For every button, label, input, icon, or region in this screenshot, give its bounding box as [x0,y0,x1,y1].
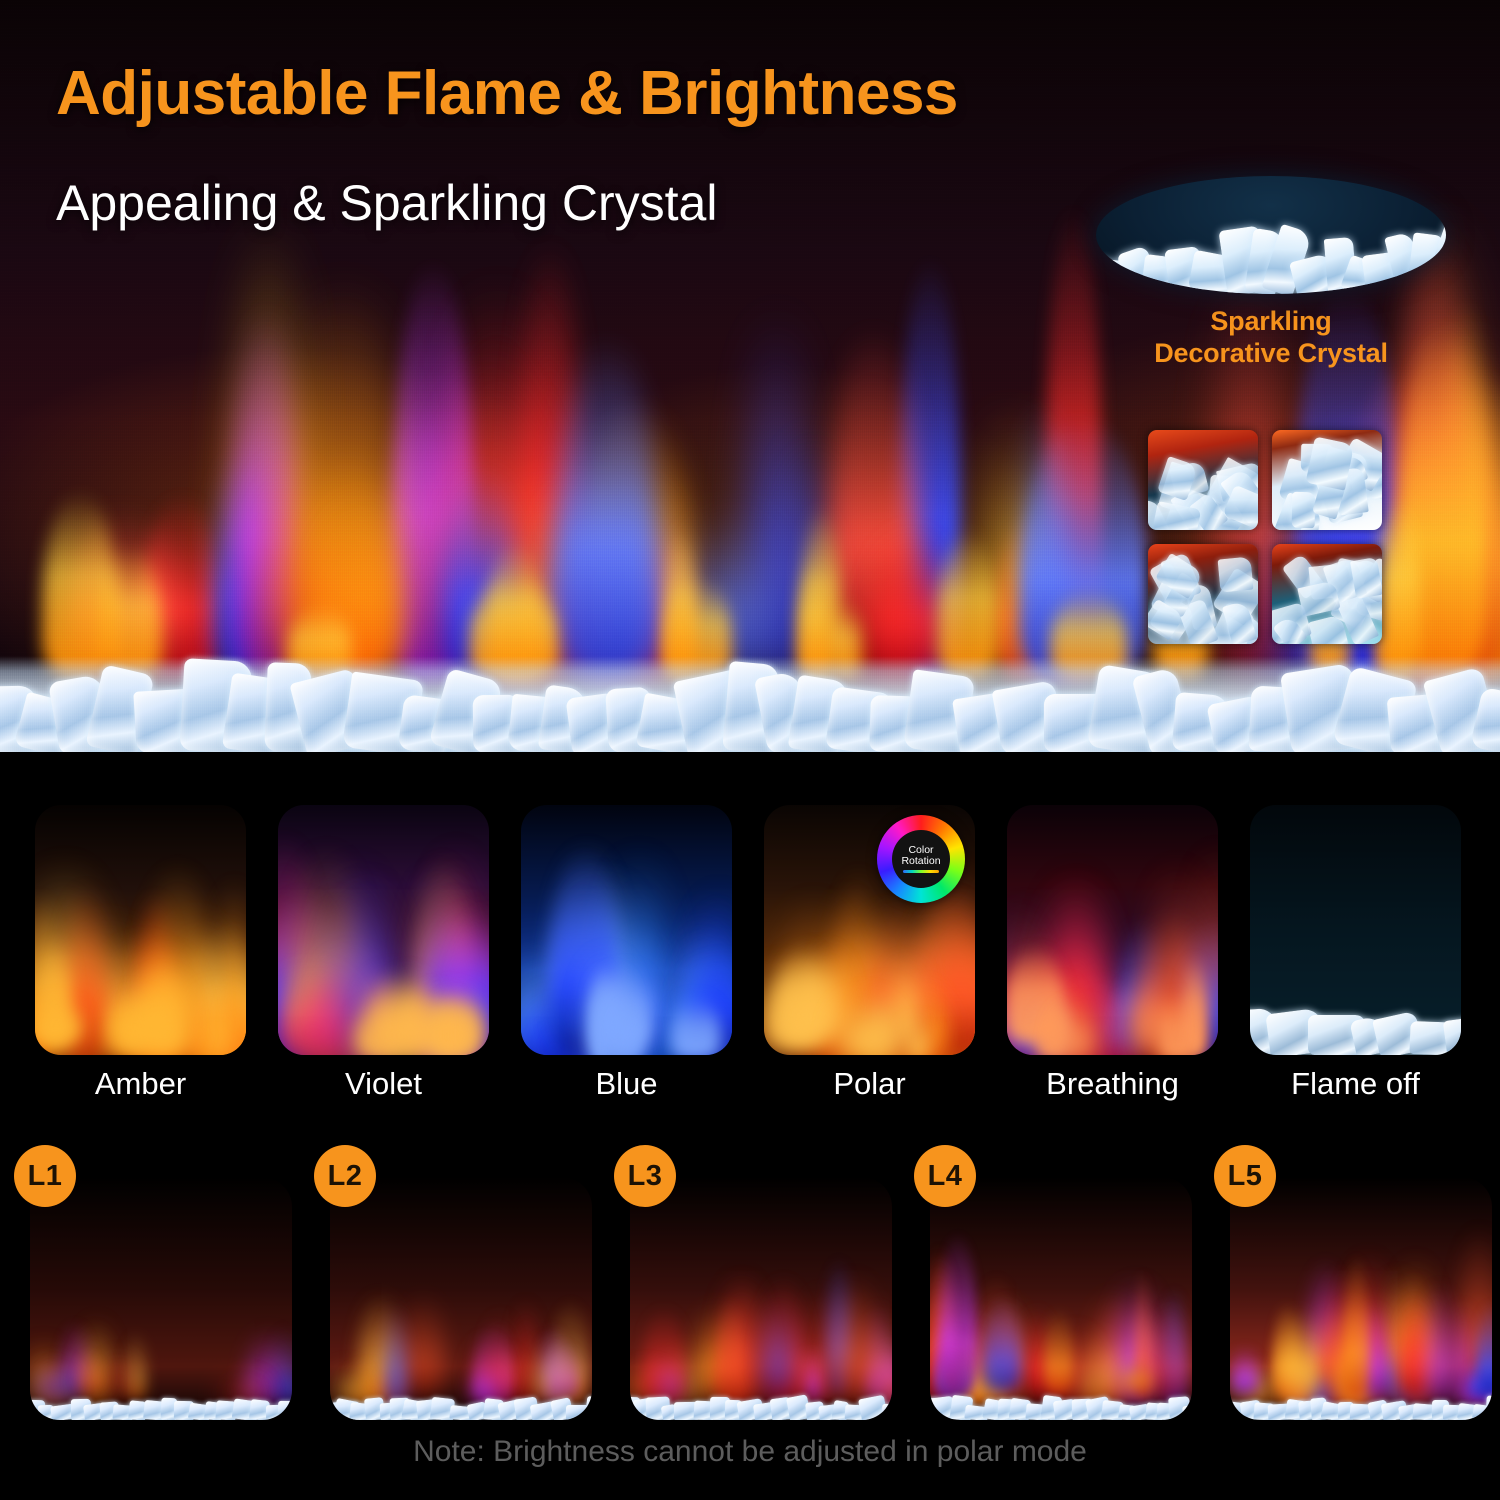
mode-label-amber: Amber [35,1068,246,1099]
brightness-badge-l2: L2 [314,1145,376,1207]
brightness-badge-l5: L5 [1214,1145,1276,1207]
color-rotation-dial-icon: ColorRotation [877,815,965,903]
page-subtitle: Appealing & Sparkling Crystal [56,178,717,228]
mode-thumbnail-amber [35,805,246,1055]
brightness-thumbnail-l3 [630,1177,892,1420]
brightness-thumbnail-l5 [1230,1177,1492,1420]
brightness-thumbnail-l1 [30,1177,292,1420]
brightness-badge-l3: L3 [614,1145,676,1207]
brightness-level-l3[interactable]: L3 [630,1177,892,1420]
brightness-levels-row: L1L2L3L4L5 [0,1145,1500,1420]
brightness-badge-l4: L4 [914,1145,976,1207]
level-crystal-bed [1230,1392,1492,1420]
brightness-level-l1[interactable]: L1 [30,1177,292,1420]
level-crystal-bed [930,1392,1192,1420]
crystal-closeup-1 [1148,430,1258,530]
crystal-callout: Sparkling Decorative Crystal [1086,176,1456,370]
level-crystal-bed [330,1392,592,1420]
brightness-badge-l1: L1 [14,1145,76,1207]
mode-label-blue: Blue [521,1068,732,1099]
color-rotation-gradient-bar [903,870,939,873]
brightness-thumbnail-l4 [930,1177,1192,1420]
brightness-level-l2[interactable]: L2 [330,1177,592,1420]
brightness-level-l4[interactable]: L4 [930,1177,1192,1420]
page-title: Adjustable Flame & Brightness [56,63,958,125]
polar-mode-note: Note: Brightness cannot be adjusted in p… [0,1437,1500,1467]
mode-item-breathing[interactable]: Breathing [1007,805,1218,1099]
mode-label-violet: Violet [278,1068,489,1099]
mode-item-amber[interactable]: Amber [35,805,246,1099]
mode-label-polar: Polar [764,1068,975,1099]
mode-thumbnail-polar: ColorRotation [764,805,975,1055]
crystal-callout-label-line2: Decorative Crystal [1086,338,1456,370]
mode-thumbnail-violet [278,805,489,1055]
crystal-callout-label: Sparkling Decorative Crystal [1086,306,1456,370]
level-crystal-bed [630,1392,892,1420]
hero-crystal-bed [0,656,1500,752]
color-rotation-label-line2: Rotation [901,856,940,867]
crystal-closeup-3 [1148,544,1258,644]
brightness-thumbnail-l2 [330,1177,592,1420]
level-crystal-bed [30,1392,292,1420]
mode-item-violet[interactable]: Violet [278,805,489,1099]
mode-item-polar[interactable]: ColorRotationPolar [764,805,975,1099]
crystal-thumbnail-grid [1148,430,1384,644]
crystal-callout-label-line1: Sparkling [1086,306,1456,338]
crystal-closeup-2 [1272,430,1382,530]
mode-label-breathing: Breathing [1007,1068,1218,1099]
brightness-level-l5[interactable]: L5 [1230,1177,1492,1420]
mode-thumbnail-blue [521,805,732,1055]
mode-item-blue[interactable]: Blue [521,805,732,1099]
mode-label-flame-off: Flame off [1250,1068,1461,1099]
mode-thumbnail-flame-off [1250,805,1461,1055]
crystal-closeup-4 [1272,544,1382,644]
sparkling-crystal-oval-photo [1096,176,1446,294]
mode-item-flame-off[interactable]: Flame off [1250,805,1461,1099]
mode-thumbnail-breathing [1007,805,1218,1055]
flame-color-modes-row: AmberVioletBlueColorRotationPolarBreathi… [0,805,1500,1110]
